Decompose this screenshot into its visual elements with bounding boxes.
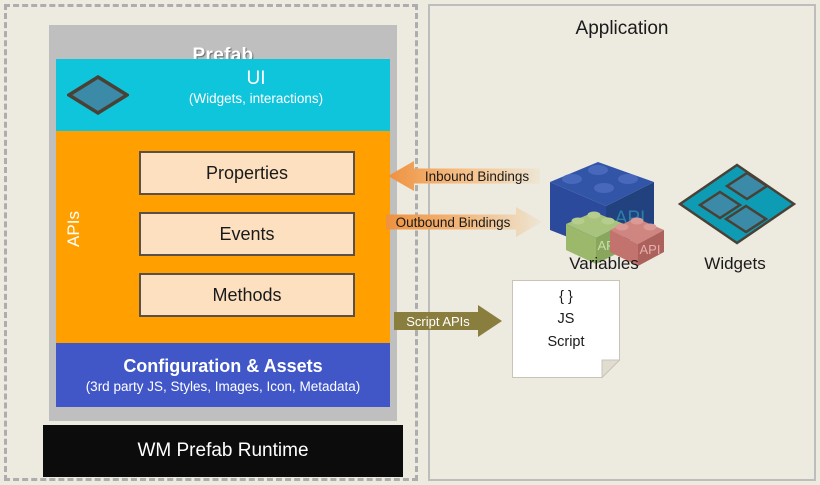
js-script-line-1: { } (512, 286, 620, 308)
wm-prefab-runtime-label: WM Prefab Runtime (137, 440, 308, 462)
apis-band: APIs Properties Events Methods (56, 131, 390, 343)
widgets-diamond-icon (678, 163, 796, 245)
api-box-methods[interactable]: Methods (139, 273, 355, 317)
inbound-bindings-arrow: Inbound Bindings (388, 160, 540, 192)
variables-caption: Variables (520, 254, 688, 274)
js-script-line-3: Script (512, 331, 620, 353)
apis-band-label: APIs (64, 199, 84, 259)
api-box-events-label: Events (219, 224, 274, 245)
api-box-properties-label: Properties (206, 163, 288, 184)
api-box-properties[interactable]: Properties (139, 151, 355, 195)
ui-band-text: UI (Widgets, interactions) (126, 67, 386, 108)
diagram-canvas: Prefab UI (Widgets, interactions) APIs P… (0, 0, 820, 485)
ui-band: UI (Widgets, interactions) (56, 59, 390, 131)
wm-prefab-runtime-bar: WM Prefab Runtime (43, 425, 403, 477)
configuration-assets-title: Configuration & Assets (123, 355, 322, 378)
api-box-events[interactable]: Events (139, 212, 355, 256)
ui-title: UI (126, 67, 386, 91)
js-script-line-2: JS (512, 308, 620, 330)
script-apis-arrow: Script APIs (394, 304, 502, 338)
ui-subtitle: (Widgets, interactions) (126, 91, 386, 108)
api-box-methods-label: Methods (212, 285, 281, 306)
configuration-assets-band: Configuration & Assets (3rd party JS, St… (56, 343, 390, 407)
ui-diamond-icon (67, 75, 129, 115)
outbound-bindings-arrow: Outbound Bindings (386, 206, 542, 238)
prefab-panel: Prefab UI (Widgets, interactions) APIs P… (4, 4, 418, 481)
application-title: Application (430, 18, 814, 40)
js-script-document-text: { } JS Script (512, 286, 620, 353)
configuration-assets-subtitle: (3rd party JS, Styles, Images, Icon, Met… (86, 378, 361, 396)
widgets-caption: Widgets (670, 254, 800, 274)
